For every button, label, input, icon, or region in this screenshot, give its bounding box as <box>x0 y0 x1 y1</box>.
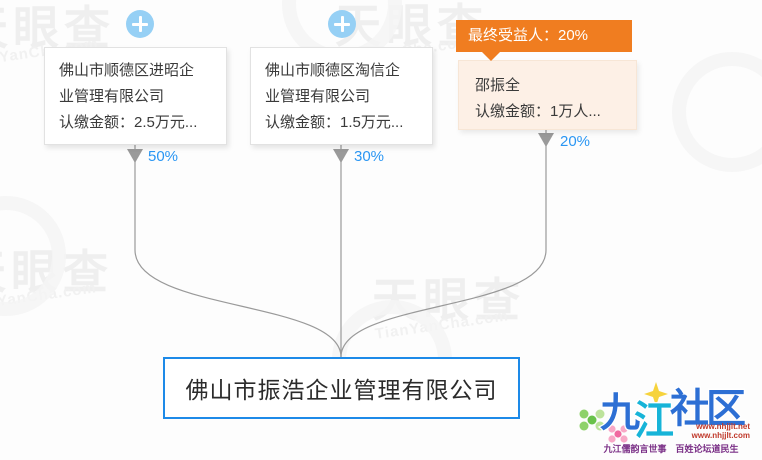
site-logo: 九 江 社 区 www.nhjjlt.net www.nhjjlt.com 九江… <box>578 378 756 456</box>
shareholder-amount: 认缴金额：2.5万元... <box>59 110 212 136</box>
shareholder-amount: 认缴金额：1.5万元... <box>265 110 418 136</box>
shareholder-name-line2: 业管理有限公司 <box>59 84 212 110</box>
plus-circle-icon[interactable] <box>126 10 154 38</box>
edge-shareholder-1 <box>135 145 341 357</box>
shareholder-card-2[interactable]: 佛山市顺德区淘信企 业管理有限公司 认缴金额：1.5万元... <box>250 47 433 145</box>
site-url-net: www.nhjjlt.net <box>692 422 750 431</box>
edge-percent-1[interactable]: 50% <box>148 148 178 165</box>
arrow-head-1 <box>127 149 143 163</box>
shareholder-name-line1: 佛山市顺德区淘信企 <box>265 58 418 84</box>
ownership-graph-canvas: 天眼查 TianYanCha.com 天眼查 TianYanCha.com 天眼… <box>0 0 762 460</box>
company-node[interactable]: 佛山市振浩企业管理有限公司 <box>163 357 520 419</box>
arrow-head-3 <box>538 133 554 147</box>
plus-circle-icon[interactable] <box>328 10 356 38</box>
beneficiary-badge-label: 最终受益人：20% <box>468 27 588 44</box>
beneficiary-badge[interactable]: 最终受益人：20% <box>456 20 632 52</box>
beneficiary-badge-tail <box>482 52 500 61</box>
edge-percent-3[interactable]: 20% <box>560 133 590 150</box>
site-logo-tagline: 九江儒韵言世事 百姓论坛道民生 <box>586 442 756 455</box>
site-logo-urls: www.nhjjlt.net www.nhjjlt.com <box>692 422 750 440</box>
person-amount: 认缴金额：1万人... <box>475 99 622 125</box>
person-name: 邵振全 <box>475 73 622 99</box>
edge-percent-2[interactable]: 30% <box>354 148 384 165</box>
shareholder-name-line1: 佛山市顺德区进昭企 <box>59 58 212 84</box>
arrow-head-2 <box>333 149 349 163</box>
site-url-com: www.nhjjlt.com <box>692 431 750 440</box>
shareholder-card-3[interactable]: 邵振全 认缴金额：1万人... <box>458 60 637 130</box>
shareholder-card-1[interactable]: 佛山市顺德区进昭企 业管理有限公司 认缴金额：2.5万元... <box>44 47 227 145</box>
company-name: 佛山市振浩企业管理有限公司 <box>186 371 498 405</box>
svg-text:江: 江 <box>634 398 674 444</box>
shareholder-name-line2: 业管理有限公司 <box>265 84 418 110</box>
